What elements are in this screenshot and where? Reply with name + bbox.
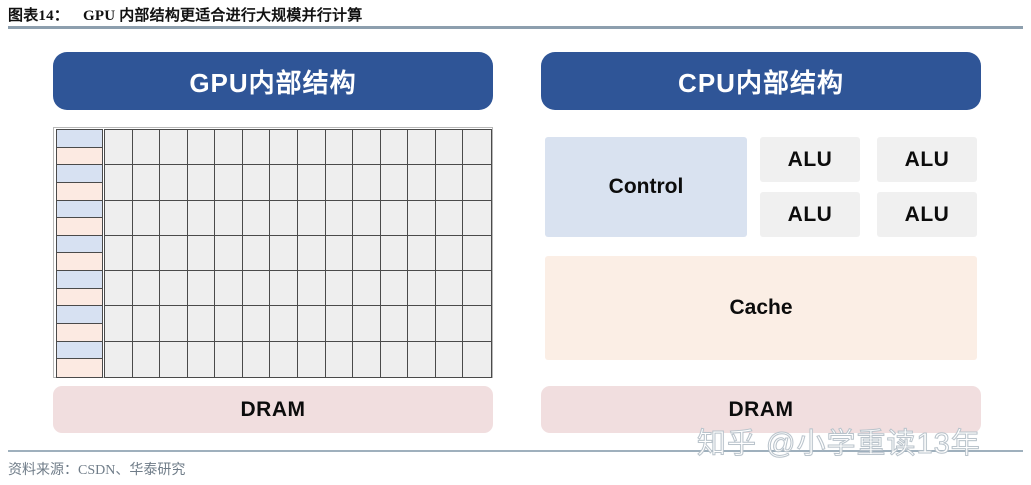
- gpu-grid-cell: [159, 341, 188, 378]
- gpu-grid-cell: [297, 341, 326, 378]
- gpu-grid-cell: [104, 200, 133, 237]
- gpu-grid-cell: [242, 341, 271, 378]
- gpu-grid-cell: [435, 129, 464, 166]
- gpu-panel-title: GPU内部结构: [189, 63, 356, 100]
- gpu-grid-cell: [214, 164, 243, 201]
- gpu-side-cell-blue: [56, 270, 103, 289]
- cpu-dram-label: DRAM: [729, 398, 794, 422]
- gpu-panel-header: GPU内部结构: [53, 52, 493, 110]
- cpu-cache-block: Cache: [545, 256, 977, 360]
- gpu-grid-cell: [132, 235, 161, 272]
- gpu-side-cell-blue: [56, 235, 103, 254]
- gpu-grid-cell: [104, 305, 133, 342]
- gpu-grid-cell: [187, 305, 216, 342]
- gpu-grid-cell: [462, 305, 491, 342]
- gpu-grid-cell: [132, 164, 161, 201]
- gpu-grid-cell: [435, 270, 464, 307]
- gpu-grid-cell: [325, 235, 354, 272]
- gpu-grid-cell: [435, 200, 464, 237]
- gpu-grid-cell: [435, 164, 464, 201]
- gpu-dram-bar: DRAM: [53, 386, 493, 433]
- gpu-side-cell-pink: [56, 147, 103, 166]
- gpu-side-cell-pink: [56, 182, 103, 201]
- gpu-grid-cell: [269, 341, 298, 378]
- gpu-grid-cell: [269, 305, 298, 342]
- gpu-grid-cell: [214, 305, 243, 342]
- title-divider: [8, 26, 1023, 29]
- gpu-grid-cell: [269, 200, 298, 237]
- gpu-grid-cell: [104, 270, 133, 307]
- source-note: 资料来源：CSDN、华泰研究: [8, 459, 185, 479]
- cpu-control-label: Control: [609, 175, 684, 199]
- gpu-grid-cell: [132, 341, 161, 378]
- gpu-grid-cell: [462, 129, 491, 166]
- cpu-alu-block: ALU: [877, 137, 977, 182]
- gpu-grid-cell: [242, 200, 271, 237]
- gpu-grid-cell: [269, 164, 298, 201]
- gpu-grid-cell: [352, 235, 381, 272]
- gpu-grid-cell: [407, 235, 436, 272]
- cpu-panel-title: CPU内部结构: [678, 63, 844, 100]
- gpu-side-cell-pink: [56, 252, 103, 271]
- gpu-grid-cell: [104, 164, 133, 201]
- gpu-grid-cell: [435, 341, 464, 378]
- gpu-grid-cell: [104, 129, 133, 166]
- gpu-grid-cell: [187, 164, 216, 201]
- gpu-grid-cell: [380, 305, 409, 342]
- gpu-grid-cell: [242, 129, 271, 166]
- gpu-grid-cell: [214, 270, 243, 307]
- gpu-grid-cell: [325, 164, 354, 201]
- gpu-grid-cell: [187, 200, 216, 237]
- gpu-grid-cell: [214, 341, 243, 378]
- gpu-grid-cell: [380, 270, 409, 307]
- gpu-side-cell-blue: [56, 164, 103, 183]
- gpu-alu-cell-grid: [104, 128, 492, 377]
- gpu-grid-cell: [187, 129, 216, 166]
- gpu-grid-cell: [187, 235, 216, 272]
- cpu-alu-block: ALU: [877, 192, 977, 237]
- gpu-grid-cell: [187, 341, 216, 378]
- gpu-grid-cell: [214, 200, 243, 237]
- gpu-grid-cell: [297, 270, 326, 307]
- cpu-alu-label: ALU: [905, 148, 950, 172]
- cpu-alu-block: ALU: [760, 137, 860, 182]
- gpu-grid-cell: [159, 270, 188, 307]
- gpu-grid-cell: [297, 129, 326, 166]
- gpu-grid-cell: [187, 270, 216, 307]
- gpu-grid-cell: [159, 235, 188, 272]
- gpu-grid-cell: [242, 164, 271, 201]
- gpu-side-cell-blue: [56, 305, 103, 324]
- gpu-grid-cell: [297, 235, 326, 272]
- gpu-grid-cell: [132, 200, 161, 237]
- gpu-grid-cell: [325, 341, 354, 378]
- gpu-grid-cell: [269, 129, 298, 166]
- exhibit-number-label: 图表14：: [8, 4, 69, 25]
- cpu-alu-label: ALU: [788, 203, 833, 227]
- gpu-grid-cell: [214, 235, 243, 272]
- cpu-alu-label: ALU: [788, 148, 833, 172]
- gpu-grid-cell: [380, 164, 409, 201]
- gpu-grid-cell: [462, 200, 491, 237]
- gpu-grid-cell: [380, 129, 409, 166]
- gpu-side-cell-pink: [56, 288, 103, 307]
- gpu-grid-cell: [380, 200, 409, 237]
- gpu-grid-cell: [462, 341, 491, 378]
- footer-divider: [8, 450, 1023, 452]
- gpu-control-cache-column: [54, 128, 104, 377]
- gpu-grid-cell: [380, 341, 409, 378]
- gpu-grid-cell: [325, 305, 354, 342]
- gpu-grid-cell: [407, 305, 436, 342]
- gpu-grid-cell: [462, 235, 491, 272]
- gpu-grid-cell: [380, 235, 409, 272]
- gpu-side-cell-pink: [56, 217, 103, 236]
- figure-canvas: GPU内部结构 CPU内部结构 DRAM Control ALU ALU ALU…: [0, 30, 1031, 444]
- gpu-grid-cell: [132, 270, 161, 307]
- gpu-grid-cell: [297, 200, 326, 237]
- gpu-grid-cell: [159, 305, 188, 342]
- gpu-grid-cell: [297, 305, 326, 342]
- gpu-grid-cell: [407, 270, 436, 307]
- gpu-grid-cell: [462, 164, 491, 201]
- gpu-grid-cell: [132, 305, 161, 342]
- cpu-panel-header: CPU内部结构: [541, 52, 981, 110]
- gpu-grid-cell: [352, 270, 381, 307]
- exhibit-title: 图表14： GPU 内部结构更适合进行大规模并行计算: [8, 2, 1023, 26]
- gpu-grid-cell: [407, 129, 436, 166]
- gpu-grid-cell: [407, 341, 436, 378]
- gpu-grid-cell: [325, 200, 354, 237]
- gpu-side-cell-blue: [56, 341, 103, 360]
- gpu-grid-cell: [214, 129, 243, 166]
- gpu-side-cell-pink: [56, 323, 103, 342]
- cpu-dram-bar: DRAM: [541, 386, 981, 433]
- gpu-side-cell-blue: [56, 129, 103, 148]
- gpu-grid-cell: [132, 129, 161, 166]
- gpu-dram-label: DRAM: [241, 398, 306, 422]
- gpu-core-grid: [53, 127, 493, 378]
- gpu-grid-cell: [352, 164, 381, 201]
- gpu-grid-cell: [352, 129, 381, 166]
- gpu-grid-cell: [159, 200, 188, 237]
- gpu-grid-cell: [104, 341, 133, 378]
- gpu-grid-cell: [242, 235, 271, 272]
- gpu-grid-cell: [407, 164, 436, 201]
- cpu-cache-label: Cache: [729, 296, 792, 320]
- gpu-grid-cell: [325, 270, 354, 307]
- gpu-side-cell-pink: [56, 358, 103, 377]
- gpu-grid-cell: [462, 270, 491, 307]
- gpu-grid-cell: [159, 129, 188, 166]
- exhibit-caption: GPU 内部结构更适合进行大规模并行计算: [83, 4, 362, 25]
- cpu-alu-label: ALU: [905, 203, 950, 227]
- gpu-grid-cell: [297, 164, 326, 201]
- gpu-grid-cell: [159, 164, 188, 201]
- gpu-grid-cell: [104, 235, 133, 272]
- gpu-grid-cell: [242, 305, 271, 342]
- cpu-alu-block: ALU: [760, 192, 860, 237]
- gpu-grid-cell: [269, 270, 298, 307]
- gpu-side-cell-blue: [56, 200, 103, 219]
- gpu-grid-cell: [242, 270, 271, 307]
- gpu-grid-cell: [325, 129, 354, 166]
- gpu-grid-cell: [407, 200, 436, 237]
- gpu-grid-cell: [435, 235, 464, 272]
- gpu-grid-cell: [352, 341, 381, 378]
- cpu-control-block: Control: [545, 137, 747, 237]
- gpu-grid-cell: [352, 200, 381, 237]
- gpu-grid-cell: [269, 235, 298, 272]
- gpu-grid-cell: [352, 305, 381, 342]
- gpu-grid-cell: [435, 305, 464, 342]
